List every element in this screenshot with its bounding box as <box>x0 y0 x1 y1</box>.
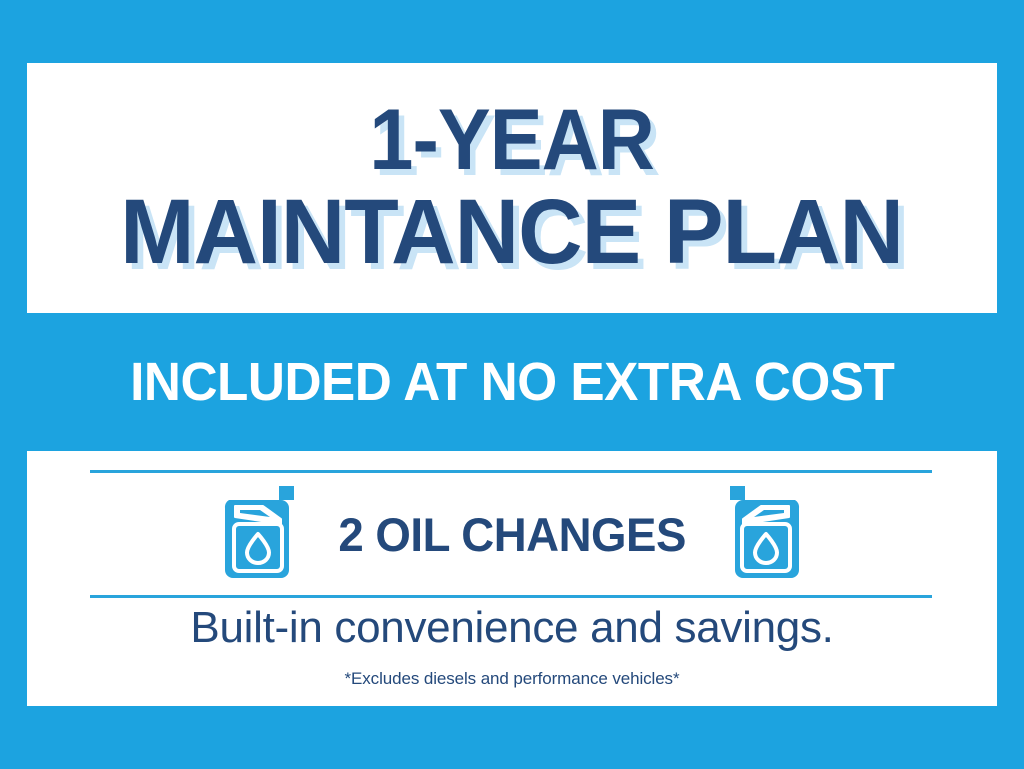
feature-row: 2 OIL CHANGES <box>27 473 997 595</box>
details-card: 2 OIL CHANGES Built-in convenience and s… <box>27 451 997 706</box>
tagline-text: Built-in convenience and savings. <box>27 603 997 653</box>
subheading-band: INCLUDED AT NO EXTRA COST <box>27 313 997 451</box>
disclaimer-text: *Excludes diesels and performance vehicl… <box>27 669 997 689</box>
headline-line-1: 1-YEAR <box>370 101 655 180</box>
maintenance-plan-poster: 1-YEAR MAINTANCE PLAN INCLUDED AT NO EXT… <box>0 0 1024 769</box>
oil-jug-icon <box>725 486 801 583</box>
headline-line-2: MAINTANCE PLAN <box>121 190 904 275</box>
subheading-text: INCLUDED AT NO EXTRA COST <box>130 351 894 413</box>
feature-label: 2 OIL CHANGES <box>338 507 686 562</box>
divider-bottom <box>90 595 932 598</box>
headline-card: 1-YEAR MAINTANCE PLAN <box>27 63 997 313</box>
oil-jug-icon <box>223 486 299 583</box>
